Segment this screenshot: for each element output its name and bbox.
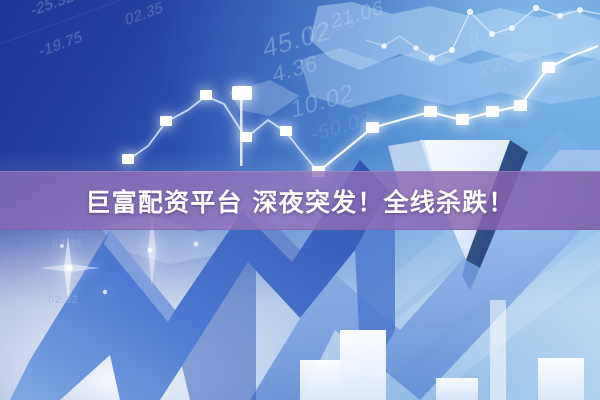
- page-title: 巨富配资平台 深夜突发！全线杀跌！: [85, 183, 514, 219]
- stock-market-banner: -43.95 -11.25 -55.02 -02.36 21.06 45.02 …: [0, 0, 600, 400]
- headline-band: 巨富配资平台 深夜突发！全线杀跌！: [0, 171, 600, 230]
